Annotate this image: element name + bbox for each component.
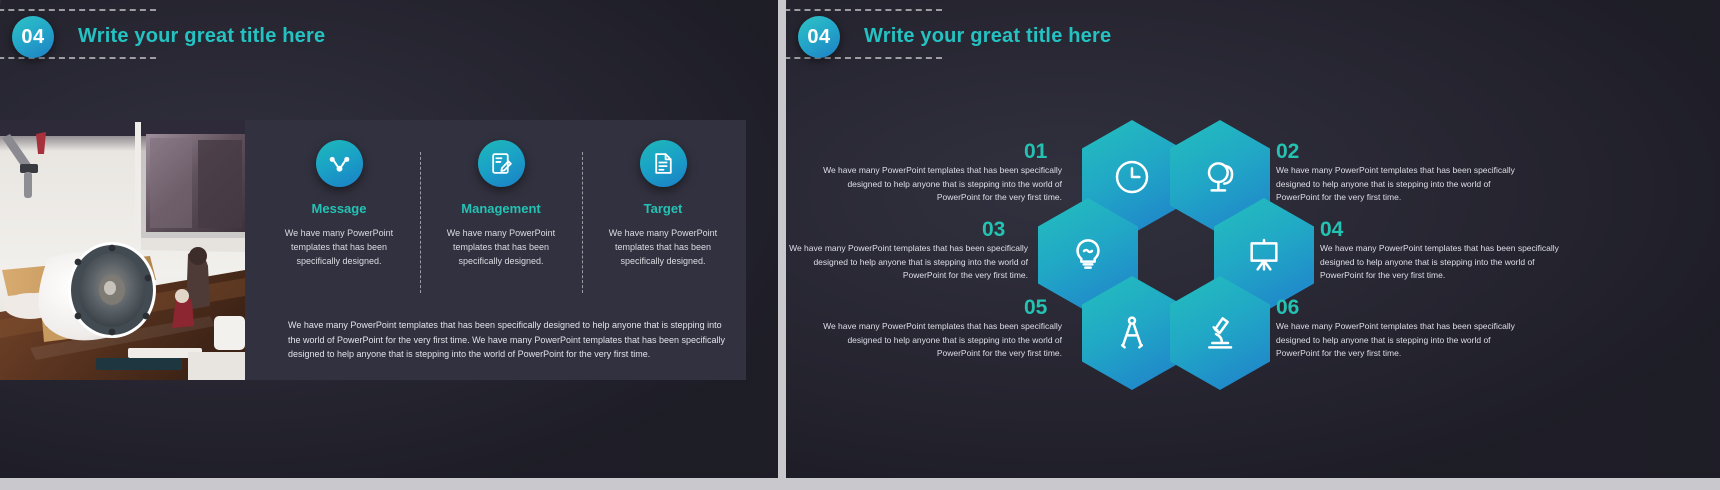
hex-text-02: We have many PowerPoint templates that h… <box>1276 164 1524 205</box>
feature-description: We have many PowerPoint templates that h… <box>435 227 567 269</box>
feature-title: Target <box>644 201 683 216</box>
feature-title: Message <box>312 201 367 216</box>
hex-text-05: We have many PowerPoint templates that h… <box>814 320 1062 361</box>
feature-description: We have many PowerPoint templates that h… <box>273 227 405 269</box>
canvas-footer <box>0 478 1720 490</box>
globe-icon <box>1200 157 1240 197</box>
feature-column-target[interactable]: Target We have many PowerPoint templates… <box>582 140 744 275</box>
hex-number-02: 02 <box>1276 140 1299 164</box>
hex-number-03: 03 <box>982 218 1005 242</box>
feature-columns: Message We have many PowerPoint template… <box>258 140 744 275</box>
presentation-board-icon <box>1244 235 1284 275</box>
hex-number-04: 04 <box>1320 218 1343 242</box>
slide-left[interactable]: 04 Write your great title here <box>0 0 778 478</box>
hex-number-01: 01 <box>1024 140 1047 164</box>
page-title: Write your great title here <box>78 25 325 48</box>
slide-right[interactable]: 04 Write your great title here 01 We hav… <box>786 0 1720 478</box>
desk-photo <box>0 120 245 380</box>
microscope-icon <box>1200 313 1240 353</box>
slide-number-badge: 04 <box>12 16 54 58</box>
hex-text-01: We have many PowerPoint templates that h… <box>814 164 1062 205</box>
feature-column-management[interactable]: Management We have many PowerPoint templ… <box>420 140 582 275</box>
hexagon-cluster: 01 We have many PowerPoint templates tha… <box>786 0 1720 478</box>
share-network-icon <box>316 140 363 187</box>
feature-title: Management <box>461 201 540 216</box>
slide-left-header: 04 Write your great title here <box>0 0 778 112</box>
document-edit-icon <box>478 140 525 187</box>
compass-divider-icon <box>1112 313 1152 353</box>
hex-number-06: 06 <box>1276 296 1299 320</box>
hex-text-06: We have many PowerPoint templates that h… <box>1276 320 1524 361</box>
slide-divider <box>778 0 786 478</box>
slide-deck-canvas: 04 Write your great title here <box>0 0 1720 490</box>
feature-column-message[interactable]: Message We have many PowerPoint template… <box>258 140 420 275</box>
lead-paragraph: We have many PowerPoint templates that h… <box>288 318 736 362</box>
hex-number-05: 05 <box>1024 296 1047 320</box>
hex-text-03: We have many PowerPoint templates that h… <box>786 242 1028 283</box>
lightbulb-icon <box>1068 235 1108 275</box>
feature-description: We have many PowerPoint templates that h… <box>597 227 729 269</box>
document-list-icon <box>640 140 687 187</box>
desk-photo-illustration <box>0 120 245 380</box>
hex-text-04: We have many PowerPoint templates that h… <box>1320 242 1568 283</box>
clock-icon <box>1112 157 1152 197</box>
